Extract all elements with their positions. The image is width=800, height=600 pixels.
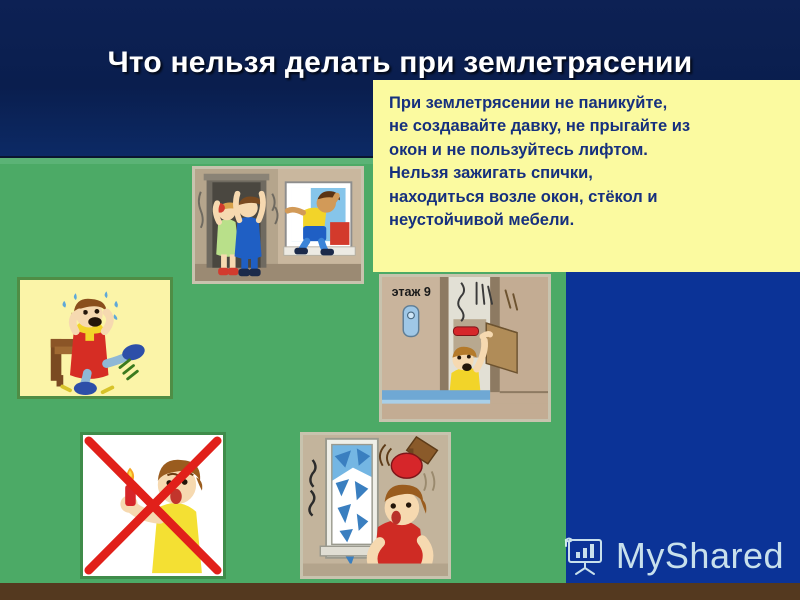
page-title: Что нельзя делать при землетрясении [0, 46, 800, 80]
watermark-label: MyShared [616, 538, 784, 574]
callout-text: При землетрясении не паникуйте, не созда… [389, 92, 786, 233]
match-forbidden-illustration [83, 435, 223, 576]
info-callout-box: При землетрясении не паникуйте, не созда… [373, 80, 800, 272]
picture-doorway-and-window-jumping [192, 166, 364, 284]
doorway-illustration [195, 169, 361, 281]
picture-broken-window-glass [300, 432, 451, 579]
picture-lighting-match-forbidden [80, 432, 226, 579]
ground-strip [0, 583, 800, 600]
broken-window-illustration [303, 435, 448, 576]
panic-illustration [20, 280, 170, 396]
elevator-floor-label: этаж 9 [392, 285, 431, 299]
picture-elevator-trap: этаж 9 [379, 274, 551, 422]
picture-panicking-woman [17, 277, 173, 399]
watermark-shared: Shared [665, 535, 784, 576]
slide-canvas: Что нельзя делать при землетрясении [0, 0, 800, 600]
watermark-my: My [616, 535, 665, 576]
myshared-watermark: MyShared [564, 536, 784, 576]
elevator-illustration: этаж 9 [382, 277, 548, 419]
presentation-chart-icon [564, 536, 606, 576]
